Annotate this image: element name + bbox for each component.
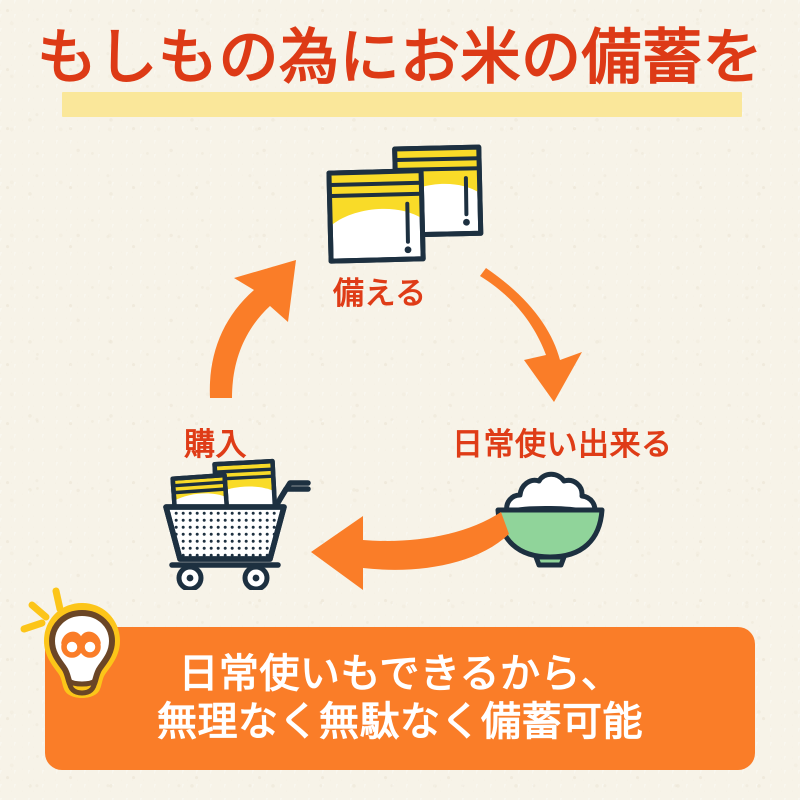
shopping-cart-icon: [160, 455, 315, 590]
cycle-label-prepare: 備える: [333, 268, 427, 313]
page-title: もしもの為にお米の備蓄を: [0, 26, 800, 91]
curved-arrow-up-icon: [196, 252, 316, 402]
title-text: もしもの為にお米の備蓄を: [37, 26, 763, 91]
poster-canvas: もしもの為にお米の備蓄を 備える 日常使い出来る: [0, 0, 800, 800]
banner-line-1: 日常使いもできるから、: [178, 651, 621, 699]
rice-bags-icon: [320, 140, 500, 265]
banner-line-2: 無理なく無駄なく備蓄可能: [157, 699, 643, 747]
curved-arrow-down-icon: [478, 256, 598, 406]
curved-arrow-left-icon: [305, 510, 515, 595]
title-highlight-bar: [62, 92, 742, 117]
summary-banner: 日常使いもできるから、 無理なく無駄なく備蓄可能: [45, 627, 755, 770]
lightbulb-idea-icon: [16, 585, 134, 703]
